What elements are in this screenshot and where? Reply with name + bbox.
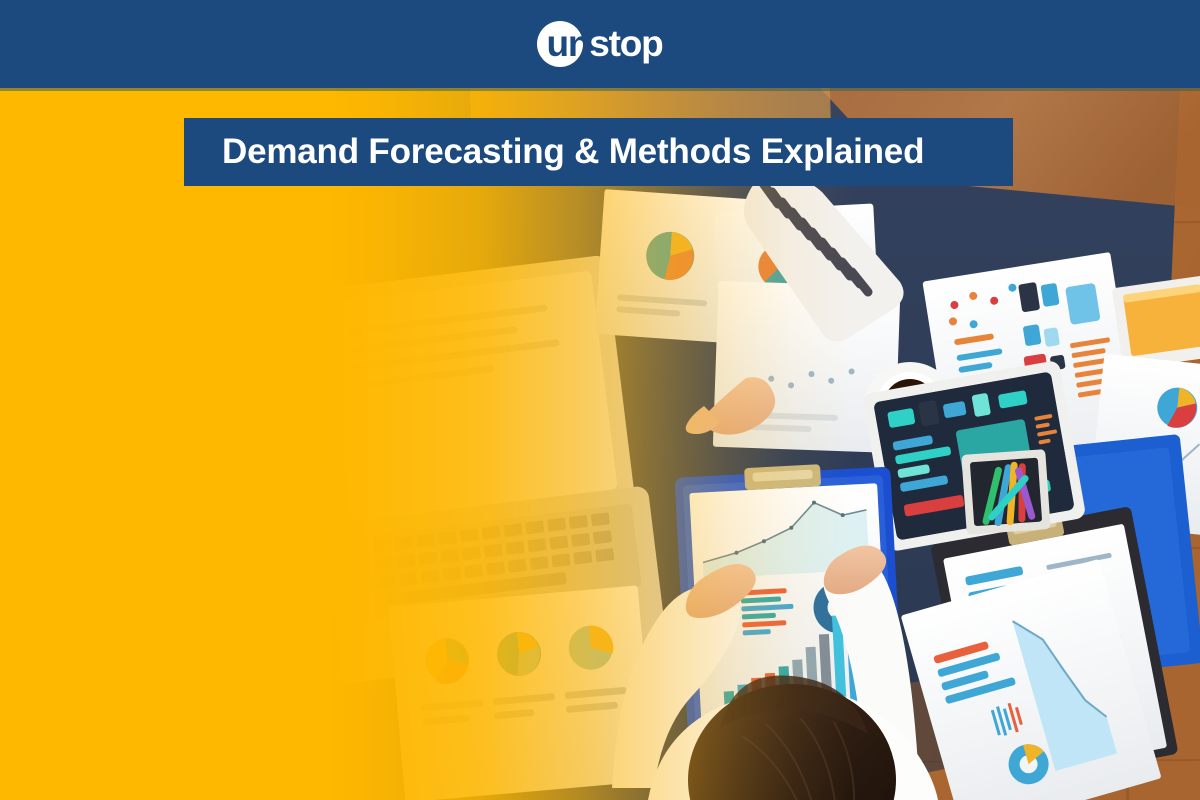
brand-bar-divider [0, 88, 1200, 91]
unstop-logo[interactable]: unstop [537, 20, 662, 68]
logo-text-stop: stop [589, 23, 662, 64]
logo-text-un: un [546, 23, 589, 64]
title-banner: Demand Forecasting & Methods Explained [184, 118, 1013, 186]
brand-bar: unstop [0, 0, 1200, 88]
blog-header-image: unstop Demand Forecasting & Methods Expl… [0, 0, 1200, 800]
page-title: Demand Forecasting & Methods Explained [184, 132, 924, 172]
hero-photo [0, 88, 1200, 800]
